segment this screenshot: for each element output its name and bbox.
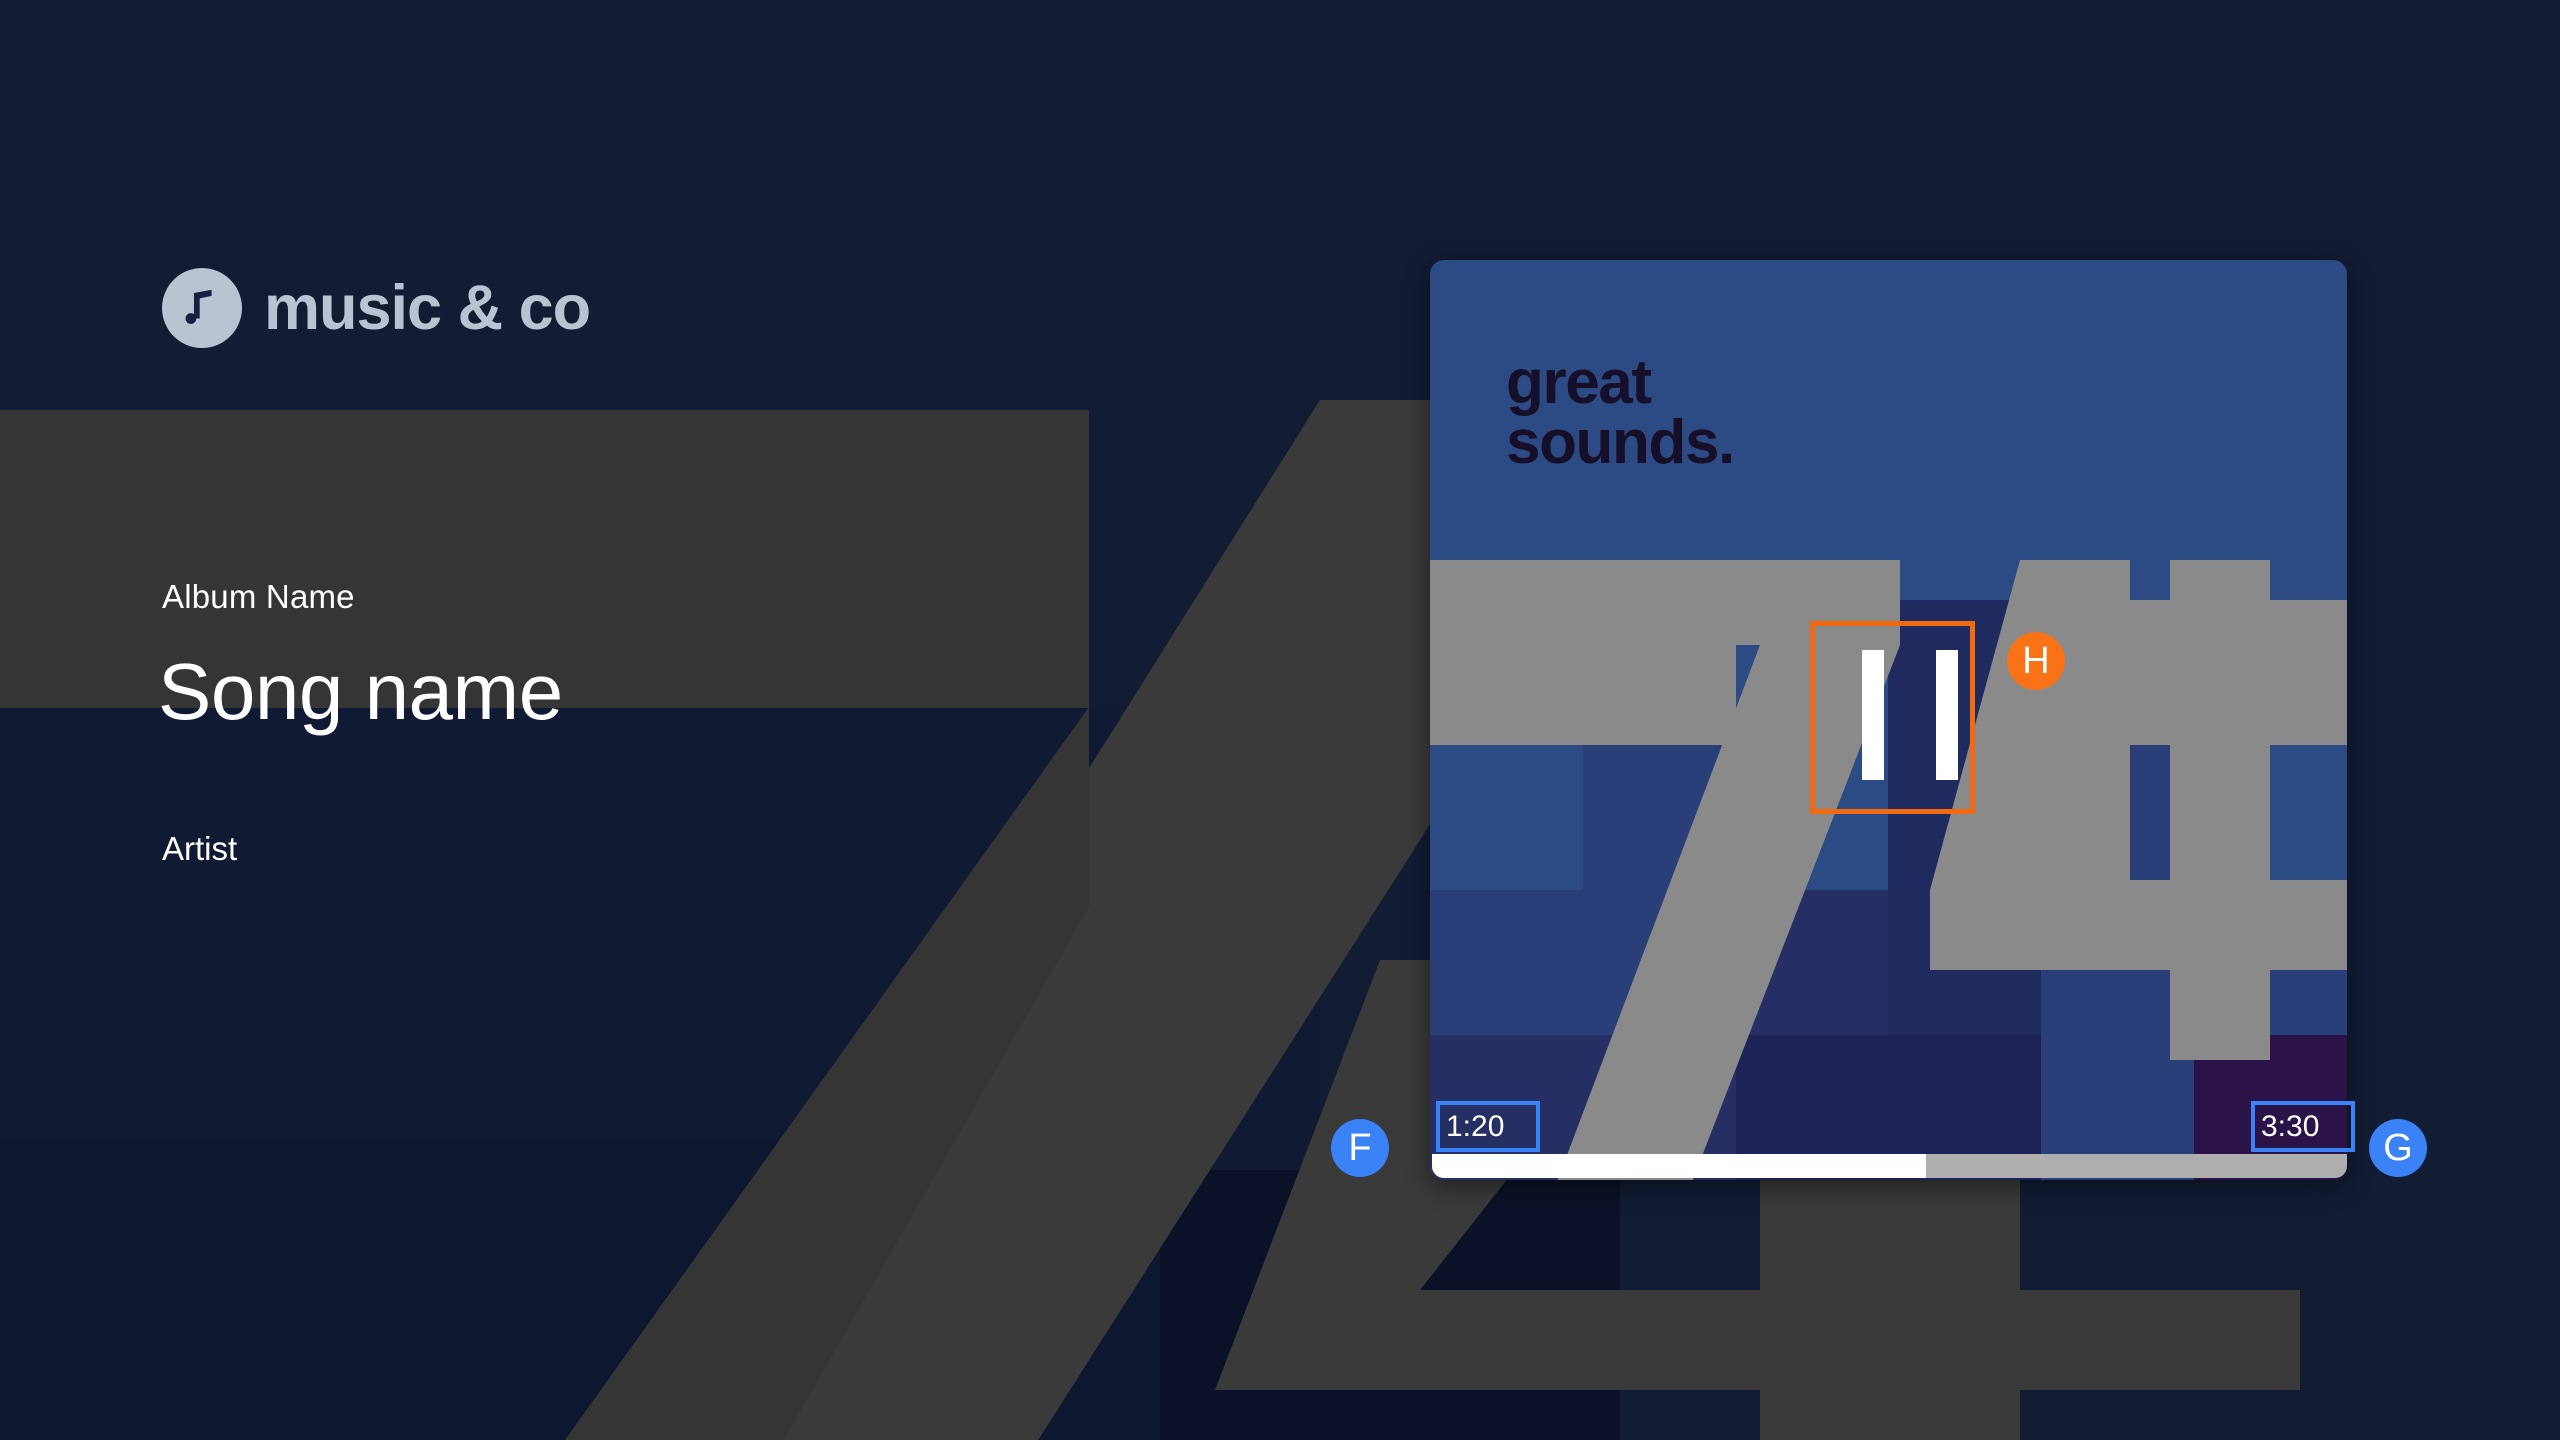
annotation-badge-g: G — [2369, 1119, 2427, 1177]
brand-logo[interactable]: music & co — [162, 268, 590, 348]
music-player-screen: music & co Album Name Song name Artist g… — [0, 0, 2560, 1440]
progress-fill — [1432, 1154, 1926, 1178]
elapsed-time-label: 1:20 — [1436, 1101, 1540, 1152]
annotation-box-pause — [1810, 621, 1975, 814]
music-note-icon — [162, 268, 242, 348]
progress-bar[interactable] — [1432, 1154, 2347, 1178]
artist-name: Artist — [162, 830, 237, 868]
annotation-badge-h: H — [2007, 632, 2065, 690]
gray-panel-diagonal-tail — [560, 707, 1100, 1440]
song-title: Song name — [158, 650, 563, 734]
brand-name: music & co — [264, 277, 590, 340]
total-time-label: 3:30 — [2251, 1101, 2355, 1152]
album-art-tagline: great sounds. — [1506, 353, 1734, 473]
annotation-badge-f: F — [1331, 1119, 1389, 1177]
album-name-label: Album Name — [162, 578, 355, 616]
